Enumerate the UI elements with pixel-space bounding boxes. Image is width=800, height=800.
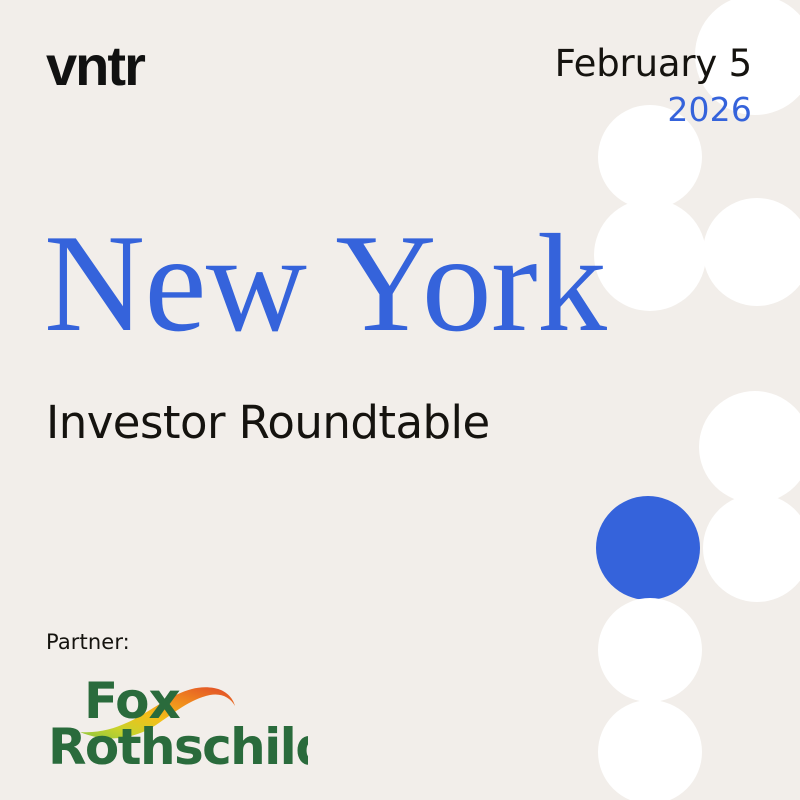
partner-label: Partner: <box>46 630 308 654</box>
partner-section: Partner: Fox Rothschild <box>46 630 308 772</box>
event-date-day: February 5 <box>555 44 752 84</box>
vntr-logo: vntr <box>46 38 144 94</box>
decor-circle <box>598 700 702 800</box>
decor-circle <box>596 496 700 600</box>
fox-rothschild-line2: Rothschild <box>48 718 308 772</box>
decor-circle <box>598 598 702 702</box>
decor-circle <box>703 494 800 602</box>
decor-circle <box>594 199 706 311</box>
event-poster: vntr February 5 2026 New York Investor R… <box>0 0 800 800</box>
event-date: February 5 2026 <box>555 44 752 128</box>
page-title: New York <box>44 214 606 354</box>
fox-rothschild-logo: Fox Rothschild <box>46 668 308 772</box>
event-date-year: 2026 <box>555 92 752 128</box>
event-subtitle: Investor Roundtable <box>46 398 490 448</box>
decor-circle <box>703 198 800 306</box>
decor-circle <box>699 391 800 503</box>
